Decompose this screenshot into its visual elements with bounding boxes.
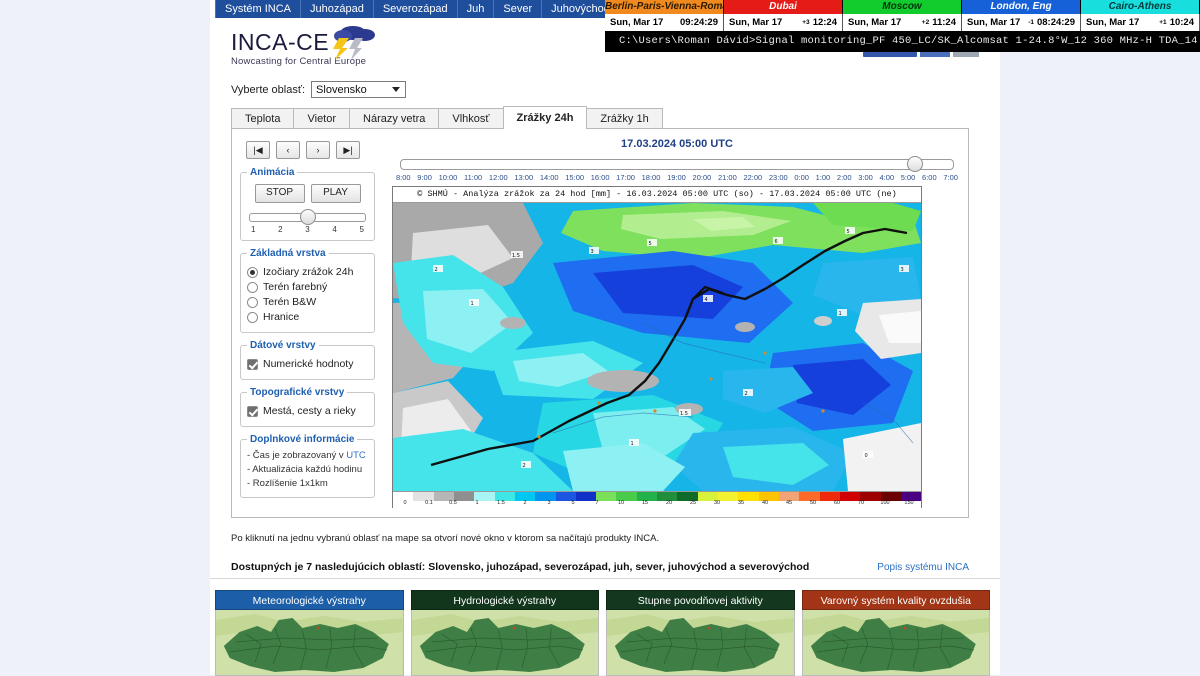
nav-item-3[interactable]: Juh — [458, 0, 495, 18]
product-tabs: TeplotaVietorNárazy vetraVlhkosťZrážky 2… — [231, 107, 662, 129]
time-tick-2: 10:00 — [439, 173, 458, 182]
time-tick-9: 17:00 — [616, 173, 635, 182]
svg-text:3: 3 — [901, 267, 904, 273]
prev-frame-button[interactable]: ‹ — [276, 141, 300, 159]
clock-clock: 12:24 — [813, 17, 837, 28]
time-tick-3: 11:00 — [464, 173, 482, 182]
legend-label-15: 40 — [762, 500, 768, 506]
legend-label-10: 15 — [642, 500, 648, 506]
clock-time-0: Sun, Mar 1709:24:29 — [605, 14, 724, 31]
chevron-down-icon — [392, 87, 400, 92]
clock-date: Sun, Mar 17 — [610, 17, 663, 28]
clock-offset: -1 — [1028, 19, 1034, 26]
base-layer-option-label: Terén B&W — [263, 296, 316, 308]
region-select[interactable]: Slovensko — [311, 81, 406, 98]
radio-icon[interactable] — [247, 267, 258, 278]
time-tick-20: 4:00 — [879, 173, 894, 182]
svg-text:1.5: 1.5 — [512, 253, 520, 259]
time-tick-15: 23:00 — [769, 173, 788, 182]
radio-icon[interactable] — [247, 282, 258, 293]
legend-swatch-10 — [596, 492, 616, 501]
time-tick-16: 0:00 — [794, 173, 809, 182]
legend-swatch-16 — [718, 492, 738, 501]
warning-card-0[interactable]: Meteorologické výstrahy — [215, 590, 404, 676]
legend-label-19: 70 — [858, 500, 864, 506]
svg-text:1: 1 — [631, 441, 634, 447]
slovakia-map-icon — [216, 610, 403, 675]
time-tick-12: 20:00 — [693, 173, 712, 182]
clock-clock: 11:24 — [932, 17, 956, 28]
tab-0[interactable]: Teplota — [231, 108, 294, 129]
svg-text:1.5: 1.5 — [680, 411, 688, 417]
radio-icon[interactable] — [247, 312, 258, 323]
slovakia-thumbnail[interactable] — [215, 610, 404, 676]
legend-label-18: 60 — [834, 500, 840, 506]
nav-item-1[interactable]: Juhozápad — [301, 0, 374, 18]
time-tick-7: 15:00 — [565, 173, 584, 182]
legend-label-0: 0 — [403, 500, 406, 506]
map-click-note: Po kliknutí na jednu vybranú oblasť na m… — [231, 533, 659, 544]
animation-buttons: STOP PLAY — [247, 184, 368, 203]
legend-label-20: 100 — [880, 500, 889, 506]
tab-5[interactable]: Zrážky 1h — [586, 108, 662, 129]
topo-layers-legend: Topografické vrstvy — [247, 387, 347, 398]
legend-label-16: 45 — [786, 500, 792, 506]
clock-city-3: London, Eng — [962, 0, 1081, 14]
legend-label-17: 50 — [810, 500, 816, 506]
nav-item-2[interactable]: Severozápad — [374, 0, 458, 18]
svg-text:2: 2 — [435, 267, 438, 273]
animation-legend: Animácia — [247, 167, 297, 178]
warning-cards: Meteorologické výstrahyHydrologické výst… — [215, 590, 990, 676]
topo-layer-option-label: Mestá, cesty a rieky — [263, 405, 356, 417]
legend-label-3: 1 — [475, 500, 478, 506]
region-select-value: Slovensko — [316, 84, 367, 96]
legend-label-8: 7 — [595, 500, 598, 506]
data-layer-options: Numerické hodnoty — [247, 358, 368, 370]
stop-button[interactable]: STOP — [255, 184, 305, 203]
warning-card-3[interactable]: Varovný systém kvality ovzdušia — [802, 590, 991, 676]
page-root: Systém INCAJuhozápadSeverozápadJuhSeverJ… — [0, 0, 1200, 675]
region-label: Vyberte oblasť: — [231, 84, 305, 96]
clock-date: Sun, Mar 17 — [1086, 17, 1139, 28]
base-layer-panel: Základná vrstva Izočiary zrážok 24hTerén… — [240, 248, 375, 333]
clock-time-4: Sun, Mar 17+110:24 — [1081, 14, 1200, 31]
time-tick-22: 6:00 — [922, 173, 937, 182]
precipitation-contours: 2 1 1.5 3 5 4 6 5 3 2 1.5 1 2 — [393, 203, 921, 491]
slovakia-thumbnail[interactable] — [411, 610, 600, 676]
base-layer-legend: Základná vrstva — [247, 248, 329, 259]
map-datetime: 17.03.2024 05:00 UTC — [392, 138, 962, 150]
clock-clock: 10:24 — [1170, 17, 1194, 28]
svg-text:6: 6 — [775, 239, 778, 245]
tab-3[interactable]: Vlhkosť — [438, 108, 503, 129]
utc-link[interactable]: UTC — [346, 450, 366, 461]
clock-date: Sun, Mar 17 — [729, 17, 782, 28]
clock-time-3: Sun, Mar 17-108:24:29 — [962, 14, 1081, 31]
tab-1[interactable]: Vietor — [293, 108, 350, 129]
base-layer-options: Izočiary zrážok 24hTerén farebnýTerén B&… — [247, 266, 368, 323]
map-title: © SHMÚ - Analýza zrážok za 24 hod [mm] -… — [393, 187, 921, 203]
time-slider-track — [400, 159, 954, 170]
svg-text:2: 2 — [745, 391, 748, 397]
data-layers-panel: Dátové vrstvy Numerické hodnoty — [240, 340, 375, 380]
clock-time-2: Sun, Mar 17+211:24 — [843, 14, 962, 31]
data-layer-option-label: Numerické hodnoty — [263, 358, 353, 370]
frame-step-buttons: |◀‹›▶| — [246, 141, 375, 159]
nav-item-4[interactable]: Sever — [494, 0, 542, 18]
animation-speed-slider[interactable] — [249, 209, 366, 223]
time-slider-knob[interactable] — [907, 156, 923, 172]
legend-label-7: 5 — [571, 500, 574, 506]
legend-label-21: 150 — [904, 500, 913, 506]
info-line-1: - Aktualizácia každú hodinu — [247, 463, 368, 477]
legend-label-13: 30 — [714, 500, 720, 506]
clock-clock: 09:24:29 — [680, 17, 718, 28]
animation-speed-ticks: 12345 — [251, 225, 364, 234]
svg-text:1: 1 — [839, 311, 842, 317]
animation-panel: Animácia STOP PLAY 12345 — [240, 167, 375, 241]
base-layer-option-label: Izočiary zrážok 24h — [263, 266, 353, 278]
logo-title: INCA-CE — [231, 30, 561, 55]
clock-city-row: Berlin-Paris-Vienna-RomaDubaiMoscowLondo… — [605, 0, 1200, 14]
speed-tick-1: 1 — [251, 225, 255, 234]
legend-label-5: 2 — [523, 500, 526, 506]
extra-info-panel: Doplnkové informácie - Čas je zobrazovan… — [240, 434, 375, 498]
slovakia-thumbnail[interactable] — [606, 610, 795, 676]
legend-color-swatches — [393, 492, 921, 501]
clock-time-row: Sun, Mar 1709:24:29Sun, Mar 17+312:24Sun… — [605, 14, 1200, 31]
base-layer-option-label: Terén farebný — [263, 281, 327, 293]
legend-label-11: 20 — [666, 500, 672, 506]
time-tick-0: 8:00 — [396, 173, 411, 182]
warning-card-1[interactable]: Hydrologické výstrahy — [411, 590, 600, 676]
topo-layers-panel: Topografické vrstvy Mestá, cesty a rieky — [240, 387, 375, 427]
speed-tick-5: 5 — [360, 225, 364, 234]
legend-swatch-9 — [576, 492, 596, 501]
time-tick-5: 13:00 — [514, 173, 533, 182]
play-button[interactable]: PLAY — [311, 184, 361, 203]
speed-tick-2: 2 — [278, 225, 282, 234]
base-layer-option-2[interactable]: Terén B&W — [247, 296, 368, 308]
map-viewport[interactable]: © SHMÚ - Analýza zrážok za 24 hod [mm] -… — [392, 186, 922, 508]
clock-city-4: Cairo-Athens — [1081, 0, 1200, 14]
world-clock-overlay: Berlin-Paris-Vienna-RomaDubaiMoscowLondo… — [605, 0, 1200, 52]
legend-label-12: 25 — [690, 500, 696, 506]
svg-text:4: 4 — [705, 297, 708, 303]
svg-text:5: 5 — [847, 229, 850, 235]
time-tick-14: 22:00 — [743, 173, 762, 182]
time-tick-13: 21:00 — [718, 173, 737, 182]
next-frame-button[interactable]: › — [306, 141, 330, 159]
time-tick-8: 16:00 — [591, 173, 610, 182]
slider-knob[interactable] — [300, 209, 316, 225]
radio-icon[interactable] — [247, 297, 258, 308]
time-tick-10: 18:00 — [642, 173, 661, 182]
time-tick-1: 9:00 — [417, 173, 432, 182]
time-tick-19: 3:00 — [858, 173, 873, 182]
base-layer-option-1[interactable]: Terén farebný — [247, 281, 368, 293]
clock-offset: +1 — [1159, 19, 1166, 26]
available-regions-row: Dostupných je 7 nasledujúcich oblastí: S… — [231, 561, 969, 573]
last-frame-button[interactable]: ▶| — [336, 141, 360, 159]
svg-text:5: 5 — [649, 241, 652, 247]
extra-info-lines: - Čas je zobrazovaný v UTC- Aktualizácia… — [247, 449, 368, 491]
tab-2[interactable]: Nárazy vetra — [349, 108, 439, 129]
region-selector-row: Vyberte oblasť: Slovensko — [231, 81, 406, 98]
clock-time-1: Sun, Mar 17+312:24 — [724, 14, 843, 31]
clock-offset: +3 — [802, 19, 809, 26]
info-line-0: - Čas je zobrazovaný v UTC — [247, 449, 368, 463]
tab-panel-zrazky-24h: |◀‹›▶| Animácia STOP PLAY 12345 Základná… — [231, 128, 969, 518]
time-tick-21: 5:00 — [901, 173, 916, 182]
data-layer-option-0[interactable]: Numerické hodnoty — [247, 358, 368, 370]
storm-cloud-icon — [319, 24, 379, 60]
map-area: 17.03.2024 05:00 UTC 8:009:0010:0011:001… — [392, 135, 962, 513]
inca-description-link[interactable]: Popis systému INCA — [877, 562, 969, 573]
slovakia-thumbnail[interactable] — [802, 610, 991, 676]
time-tick-11: 19:00 — [667, 173, 686, 182]
time-tick-17: 1:00 — [816, 173, 831, 182]
legend-label-9: 10 — [618, 500, 624, 506]
clock-city-0: Berlin-Paris-Vienna-Roma — [605, 0, 724, 14]
svg-text:3: 3 — [591, 249, 594, 255]
clock-clock: 08:24:29 — [1037, 17, 1075, 28]
clock-city-2: Moscow — [843, 0, 962, 14]
warning-card-2[interactable]: Stupne povodňovej aktivity — [606, 590, 795, 676]
data-layers-legend: Dátové vrstvy — [247, 340, 319, 351]
legend-swatch-3 — [454, 492, 474, 501]
clock-date: Sun, Mar 17 — [967, 17, 1020, 28]
clock-offset: +2 — [922, 19, 929, 26]
time-slider[interactable] — [400, 156, 954, 170]
logo-subtitle: Nowcasting for Central Europe — [231, 56, 561, 67]
warning-card-title: Stupne povodňovej aktivity — [606, 590, 795, 610]
slovakia-map-icon — [412, 610, 599, 675]
svg-text:0: 0 — [865, 453, 868, 459]
precipitation-map[interactable]: 2 1 1.5 3 5 4 6 5 3 2 1.5 1 2 — [393, 203, 921, 491]
base-layer-option-label: Hranice — [263, 311, 299, 323]
time-tick-6: 14:00 — [540, 173, 559, 182]
legend-label-1: 0.1 — [425, 500, 433, 506]
time-tick-23: 7:00 — [943, 173, 958, 182]
map-controls-column: |◀‹›▶| Animácia STOP PLAY 12345 Základná… — [240, 137, 375, 505]
legend-label-4: 1.5 — [497, 500, 505, 506]
clock-date: Sun, Mar 17 — [848, 17, 901, 28]
warning-card-title: Varovný systém kvality ovzdušia — [802, 590, 991, 610]
checkbox-icon[interactable] — [247, 406, 258, 417]
extra-info-legend: Doplnkové informácie — [247, 434, 357, 445]
base-layer-option-3[interactable]: Hranice — [247, 311, 368, 323]
info-line-2: - Rozlíšenie 1x1km — [247, 477, 368, 491]
tab-4[interactable]: Zrážky 24h — [503, 106, 588, 129]
svg-text:1: 1 — [471, 301, 474, 307]
legend-value-labels: 00.10.511.523571015202530354045506070100… — [393, 501, 921, 508]
warning-card-title: Meteorologické výstrahy — [215, 590, 404, 610]
time-tick-18: 2:00 — [837, 173, 852, 182]
topo-layer-options: Mestá, cesty a rieky — [247, 405, 368, 417]
time-slider-ticks: 8:009:0010:0011:0012:0013:0014:0015:0016… — [396, 173, 958, 182]
legend-label-14: 35 — [738, 500, 744, 506]
speed-tick-3: 3 — [305, 225, 309, 234]
time-tick-4: 12:00 — [489, 173, 508, 182]
nav-item-0[interactable]: Systém INCA — [215, 0, 301, 18]
available-regions-note: Dostupných je 7 nasledujúcich oblastí: S… — [231, 561, 809, 573]
topo-layer-option-0[interactable]: Mestá, cesty a rieky — [247, 405, 368, 417]
map-color-legend: 00.10.511.523571015202530354045506070100… — [393, 491, 921, 508]
first-frame-button[interactable]: |◀ — [246, 141, 270, 159]
checkbox-icon[interactable] — [247, 359, 258, 370]
base-layer-option-0[interactable]: Izočiary zrážok 24h — [247, 266, 368, 278]
legend-swatch-7 — [535, 492, 555, 501]
warning-card-title: Hydrologické výstrahy — [411, 590, 600, 610]
site-logo: INCA-CE Nowcasting for Central Europe — [231, 30, 561, 70]
clock-city-1: Dubai — [724, 0, 843, 14]
svg-text:2: 2 — [523, 463, 526, 469]
speed-tick-4: 4 — [332, 225, 336, 234]
legend-label-6: 3 — [547, 500, 550, 506]
slovakia-map-icon — [803, 610, 990, 675]
legend-label-2: 0.5 — [449, 500, 457, 506]
slovakia-map-icon — [607, 610, 794, 675]
section-divider — [210, 578, 1000, 579]
console-command-line: C:\Users\Roman Dávid>Signal monitoring_P… — [605, 31, 1200, 52]
